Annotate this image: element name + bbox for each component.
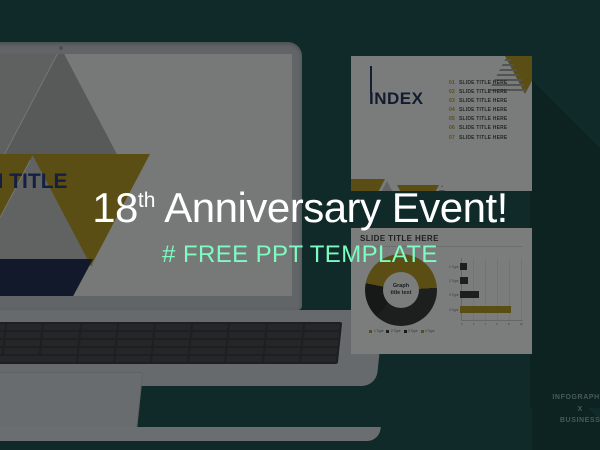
slide-year: 2018 [0, 146, 68, 165]
watermark-line-2: X [552, 404, 600, 415]
headline-number: 18 [92, 184, 138, 231]
subheadline-text: # FREE PPT TEMPLATE [0, 241, 600, 269]
slide-title: PRESENTATION TITLE [0, 170, 68, 194]
watermark-line-3: BUSINESS [552, 415, 600, 426]
headline-ordinal-suffix: th [138, 189, 156, 212]
slide-subtitle: PPT TEMPLATE [0, 199, 68, 208]
watermark: INFOGRAPHIC X BUSINESS [552, 392, 600, 426]
headline-text: 18th Anniversary Event! [0, 186, 600, 230]
headline-rest: Anniversary Event! [155, 184, 507, 231]
slide-text-block: 2018 PRESENTATION TITLE PPT TEMPLATE [0, 146, 68, 208]
poster-canvas: 2018 PRESENTATION TITLE PPT TEMPLATE [0, 0, 600, 450]
headline-block: 18th Anniversary Event! # FREE PPT TEMPL… [0, 186, 600, 269]
watermark-line-1: INFOGRAPHIC [552, 392, 600, 403]
